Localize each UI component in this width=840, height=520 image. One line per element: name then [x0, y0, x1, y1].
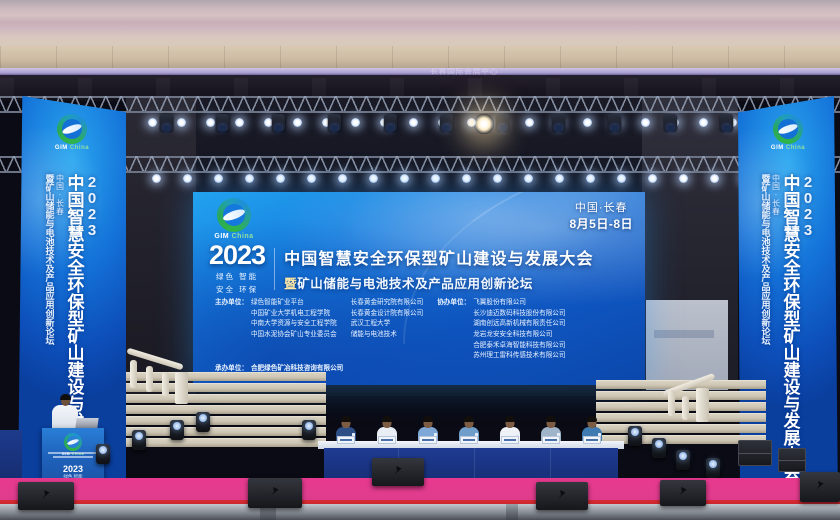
- name-card: [419, 436, 437, 444]
- floor-moving-light: [170, 420, 184, 440]
- co-organizer-item: 长沙迪迈数码科技股份有限公司: [473, 309, 565, 320]
- moving-head-light: [608, 114, 621, 131]
- spotlight: [555, 174, 564, 183]
- host-label: 主办单位：: [215, 298, 248, 362]
- baluster: [146, 366, 153, 392]
- stair-pillar-left: [175, 372, 188, 404]
- banner-right-title: 中国智慧安全环保型矿山建设与发展大会: [782, 174, 799, 484]
- name-card: [337, 436, 355, 444]
- host-organizer-item: 长春黄金研究院有限公司: [351, 298, 424, 309]
- host-organizer-item: 武汉工程大学: [351, 319, 424, 330]
- floor-moving-light: [302, 420, 316, 440]
- host-list-2: 长春黄金研究院有限公司长春黄金设计院有限公司武汉工程大学储能与电池技术: [351, 298, 424, 362]
- ceiling-vents: [0, 78, 840, 98]
- stage-monitor: [660, 480, 706, 506]
- stairs-left: [126, 372, 326, 446]
- spotlight: [338, 174, 347, 183]
- host-organizer-item: 绿色智能矿业平台: [251, 298, 337, 309]
- baluster: [130, 360, 137, 388]
- stage-photo: 长春国际会展中心 GIM China 2023: [0, 0, 840, 520]
- banner-right-year: 2023: [801, 174, 816, 484]
- podium-laptop: [75, 418, 98, 428]
- spotlight: [431, 174, 440, 183]
- moving-head-light: [720, 114, 733, 131]
- stage-monitor: [372, 458, 424, 486]
- host-organizer-item: 中国矿业大学机电工程学院: [251, 309, 337, 320]
- name-card: [583, 436, 601, 444]
- moving-head-light: [328, 114, 341, 131]
- flight-case: [738, 440, 772, 466]
- spotlight: [462, 174, 471, 183]
- stage-monitor: [536, 482, 588, 510]
- screen-title-sub-wrap: 暨矿山储能与电池技术及产品应用创新论坛: [284, 273, 635, 292]
- moving-head-light: [384, 114, 397, 131]
- screen-title-main: 中国智慧安全环保型矿山建设与发展大会: [284, 245, 635, 269]
- podium-speaker: [52, 396, 78, 430]
- spotlight: [648, 174, 657, 183]
- screen-title-sub-prefix: 暨: [284, 277, 297, 291]
- screen-date: 8月5日-8日: [569, 216, 633, 232]
- screen-year: 2023: [209, 242, 265, 269]
- host-organizer-item: 储能与电池技术: [351, 330, 424, 341]
- ceiling-led-strip: [0, 68, 840, 75]
- floor-moving-light: [196, 412, 210, 432]
- host-organizers-col1: 主办单位： 绿色智能矿业平台中国矿业大学机电工程学院中南大学资源与安全工程学院中…: [215, 298, 337, 362]
- banner-right-city: 中国·长春: [772, 174, 780, 484]
- name-card: [542, 436, 560, 444]
- spotlight: [152, 174, 161, 183]
- banner-left-logo: GIM China: [51, 114, 93, 151]
- spotlight: [400, 174, 409, 183]
- stage-monitor: [800, 472, 840, 502]
- co-organizer-item: 合肥泰禾卓海智能科技有限公司: [473, 341, 565, 352]
- undertaker-line: 承办单位： 合肥绿色矿冶科技咨询有限公司: [215, 362, 343, 372]
- spotlight: [586, 174, 595, 183]
- spotlight: [276, 174, 285, 183]
- moving-head-light: [552, 114, 565, 131]
- screen-gim-logo: GIM China: [207, 198, 261, 240]
- spotlight: [369, 174, 378, 183]
- floor-moving-light: [96, 444, 110, 464]
- screen-slogan-2: 安全 环保: [209, 285, 265, 295]
- spotlight: [245, 174, 254, 183]
- host-list-1: 绿色智能矿业平台中国矿业大学机电工程学院中南大学资源与安全工程学院中国水泥协会矿…: [251, 298, 337, 362]
- screen-city-date: 中国·长春 8月5日-8日: [569, 201, 633, 232]
- moving-head-light: [216, 114, 229, 131]
- host-organizer-item: 中国水泥协会矿山专业委员会: [251, 330, 337, 341]
- podium-year: 2023: [42, 464, 104, 474]
- co-organizers: 协办单位： 飞翼股份有限公司长沙迪迈数码科技股份有限公司湖南创远高新机械有限责任…: [437, 298, 565, 362]
- floor-moving-light: [652, 438, 666, 458]
- moving-head-light: [160, 114, 173, 131]
- banner-right-logo: GIM China: [767, 114, 809, 151]
- truss-bar-upper: [0, 96, 840, 113]
- spotlight: [214, 174, 223, 183]
- baluster: [682, 396, 689, 420]
- moving-head-light: [272, 114, 285, 131]
- front-rail: [0, 504, 840, 520]
- bright-spotlight: [474, 114, 494, 134]
- undertaker-value: 合肥绿色矿冶科技咨询有限公司: [251, 362, 343, 372]
- co-organizer-item: 龙岩龙安安全科技有限公司: [473, 330, 565, 341]
- floor-moving-light: [706, 458, 720, 478]
- spotlight: [679, 174, 688, 183]
- side-projection-screen: [646, 300, 728, 390]
- moving-head-light: [496, 114, 509, 131]
- screen-title-row: 2023 绿色 智能 安全 环保 中国智慧安全环保型矿山建设与发展大会 暨矿山储…: [209, 242, 635, 295]
- screen-year-block: 2023 绿色 智能 安全 环保: [209, 242, 265, 295]
- host-organizer-item: 长春黄金设计院有限公司: [351, 309, 424, 320]
- moving-head-light: [664, 114, 677, 131]
- co-organizer-label: 协办单位：: [437, 298, 470, 362]
- stage-monitor: [18, 482, 74, 510]
- spotlight: [617, 174, 626, 183]
- truss-bar-lower: [0, 156, 840, 173]
- lighting-truss: [0, 96, 840, 182]
- baluster: [162, 372, 169, 396]
- name-card: [378, 436, 396, 444]
- screen-title-sub: 矿山储能与电池技术及产品应用创新论坛: [297, 277, 533, 291]
- title-divider: [274, 248, 275, 290]
- stage-monitor: [248, 478, 302, 508]
- baluster: [668, 390, 675, 416]
- co-organizer-item: 飞翼股份有限公司: [473, 298, 565, 309]
- undertaker-label: 承办单位：: [215, 362, 248, 372]
- ceiling-stone-band: [0, 46, 840, 68]
- name-card: [501, 436, 519, 444]
- floor-moving-light: [628, 426, 642, 446]
- host-organizer-item: 中南大学资源与安全工程学院: [251, 319, 337, 330]
- name-card: [460, 436, 478, 444]
- moving-head-light: [440, 114, 453, 131]
- podium-title-lines: [48, 452, 98, 460]
- co-organizer-item: 湖南创远高新机械有限责任公司: [473, 319, 565, 330]
- spotlight: [307, 174, 316, 183]
- moving-head-row-upper: [0, 114, 840, 140]
- stair-pillar-right: [696, 388, 709, 422]
- floor-moving-light: [132, 430, 146, 450]
- main-led-screen: GIM China 中国·长春 8月5日-8日 2023 绿色 智能 安全 环保…: [193, 192, 645, 385]
- spotlight: [183, 174, 192, 183]
- spotlight: [493, 174, 502, 183]
- screen-titles: 中国智慧安全环保型矿山建设与发展大会 暨矿山储能与电池技术及产品应用创新论坛: [284, 245, 635, 292]
- flight-case: [778, 448, 806, 472]
- host-organizers-col2: 长春黄金研究院有限公司长春黄金设计院有限公司武汉工程大学储能与电池技术: [351, 298, 424, 362]
- spotlight: [710, 174, 719, 183]
- floor-moving-light: [676, 450, 690, 470]
- screen-city: 中国·长春: [569, 201, 633, 216]
- screen-organizers: 主办单位： 绿色智能矿业平台中国矿业大学机电工程学院中南大学资源与安全工程学院中…: [215, 298, 631, 362]
- co-organizer-item: 苏州理工雷科传感技术有限公司: [473, 351, 565, 362]
- screen-slogan-1: 绿色 智能: [209, 272, 265, 282]
- spotlight: [524, 174, 533, 183]
- co-organizer-list: 飞翼股份有限公司长沙迪迈数码科技股份有限公司湖南创远高新机械有限责任公司龙岩龙安…: [473, 298, 565, 362]
